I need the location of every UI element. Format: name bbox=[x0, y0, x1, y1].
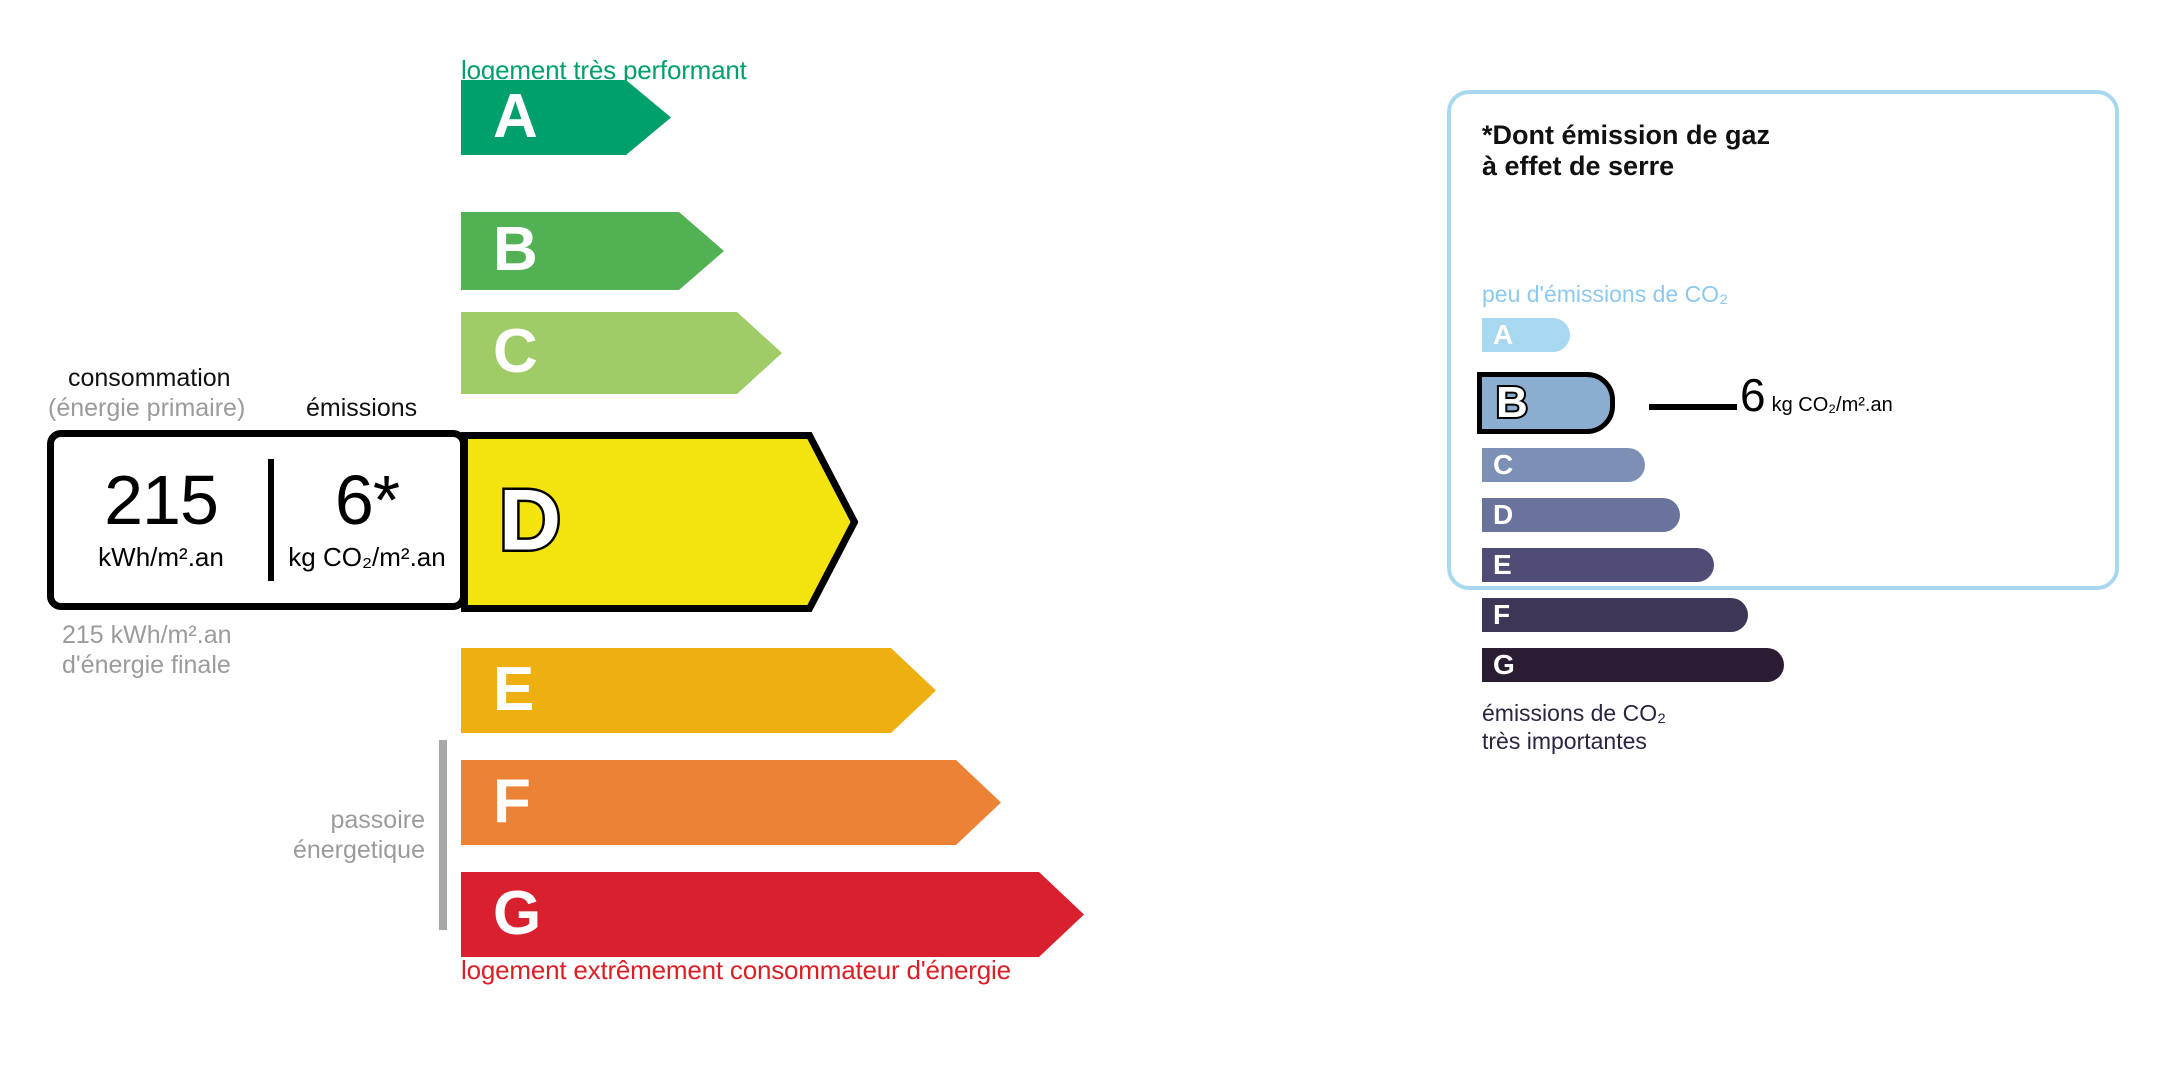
co2-bar-b: B bbox=[1477, 372, 1615, 434]
energy-band-letter-b: B bbox=[493, 219, 537, 281]
consumption-subtitle: (énergie primaire) bbox=[48, 394, 245, 423]
passoire-line1: passoire bbox=[200, 805, 425, 835]
passoire-bracket bbox=[439, 740, 447, 930]
co2-bar-e: E bbox=[1482, 548, 1714, 582]
co2-value-label: 6kg CO₂/m².an bbox=[1740, 372, 1893, 418]
final-energy-line1: 215 kWh/m².an bbox=[62, 620, 232, 650]
co2-bar-letter-b: B bbox=[1496, 381, 1528, 425]
primary-energy-cell: 215 kWh/m².an bbox=[54, 437, 268, 603]
co2-panel-title: *Dont émission de gaz à effet de serre bbox=[1482, 120, 1770, 182]
passoire-line2: énergetique bbox=[200, 835, 425, 865]
co2-bar-letter-a: A bbox=[1493, 321, 1513, 349]
energy-band-d: D bbox=[461, 432, 858, 612]
co2-bar-f: F bbox=[1482, 598, 1748, 632]
co2-bar-a: A bbox=[1482, 318, 1570, 352]
energy-band-shape-g bbox=[461, 872, 1084, 957]
co2-bar-d: D bbox=[1482, 498, 1680, 532]
energy-band-f: F bbox=[461, 760, 1001, 845]
energy-band-letter-d: D bbox=[499, 477, 560, 563]
energy-band-letter-a: A bbox=[493, 85, 537, 147]
passoire-label: passoire énergetique bbox=[200, 805, 425, 865]
co2-bar-c: C bbox=[1482, 448, 1645, 482]
emissions-title: émissions bbox=[306, 394, 417, 423]
co2-caption-bottom-line1: émissions de CO₂ bbox=[1482, 700, 1666, 728]
co2-bar-letter-g: G bbox=[1493, 651, 1515, 679]
emission-unit: kg CO₂/m².an bbox=[288, 542, 445, 573]
final-energy-note: 215 kWh/m².an d'énergie finale bbox=[62, 620, 232, 680]
value-box: 215 kWh/m².an 6* kg CO₂/m².an bbox=[47, 430, 467, 610]
co2-bar-letter-c: C bbox=[1493, 451, 1513, 479]
co2-title-line1: *Dont émission de gaz bbox=[1482, 120, 1770, 151]
energy-band-g: G bbox=[461, 872, 1084, 957]
energy-band-a: A bbox=[461, 80, 671, 155]
co2-bar-letter-f: F bbox=[1493, 601, 1510, 629]
energy-band-letter-c: C bbox=[493, 321, 537, 383]
co2-caption-bottom-line2: très importantes bbox=[1482, 728, 1666, 756]
co2-caption-bottom: émissions de CO₂ très importantes bbox=[1482, 700, 1666, 755]
energy-band-b: B bbox=[461, 212, 724, 290]
energy-band-letter-g: G bbox=[493, 882, 540, 944]
dpe-energy-label: logement très performant ABCDEFG logemen… bbox=[0, 0, 2170, 1079]
co2-value-unit: kg CO₂/m².an bbox=[1772, 394, 1893, 416]
energy-band-letter-f: F bbox=[493, 770, 530, 832]
final-energy-line2: d'énergie finale bbox=[62, 650, 232, 680]
co2-connector-line bbox=[1649, 404, 1737, 410]
co2-bar-letter-d: D bbox=[1493, 501, 1513, 529]
scale-caption-bottom: logement extrêmement consommateur d'éner… bbox=[461, 955, 1011, 986]
co2-title-line2: à effet de serre bbox=[1482, 151, 1770, 182]
energy-band-c: C bbox=[461, 312, 782, 394]
co2-bar-letter-e: E bbox=[1493, 551, 1512, 579]
co2-caption-top: peu d'émissions de CO₂ bbox=[1482, 281, 1728, 308]
co2-bar-g: G bbox=[1482, 648, 1784, 682]
energy-band-e: E bbox=[461, 648, 936, 733]
primary-energy-value: 215 bbox=[104, 467, 218, 534]
energy-band-shape-f bbox=[461, 760, 1001, 845]
co2-value-number: 6 bbox=[1740, 369, 1766, 421]
energy-band-letter-e: E bbox=[493, 658, 533, 720]
emission-cell: 6* kg CO₂/m².an bbox=[274, 437, 460, 603]
consumption-title: consommation bbox=[68, 364, 231, 393]
emission-value: 6* bbox=[335, 467, 399, 534]
primary-energy-unit: kWh/m².an bbox=[98, 542, 224, 573]
